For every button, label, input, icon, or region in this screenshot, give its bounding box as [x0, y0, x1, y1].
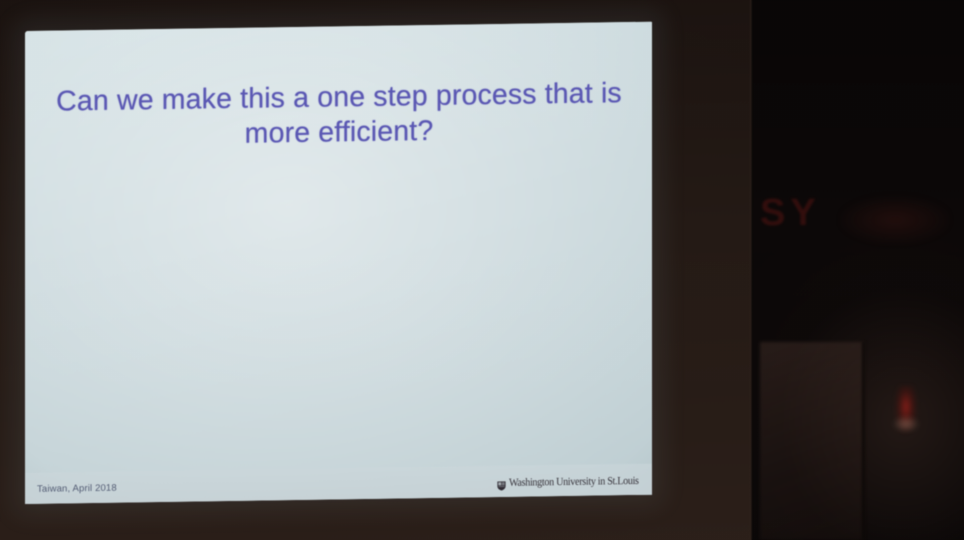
room-wall-edge: [750, 0, 753, 540]
slide-footer-location-date: Taiwan, April 2018: [37, 483, 117, 495]
wustl-wordmark: Washington University in St.Louis: [509, 475, 639, 489]
wall-panel: [760, 342, 864, 540]
projected-slide-photo: SY Can we make this a one step process t…: [0, 0, 964, 540]
slide-footer-branding: Washington University in St.Louis: [497, 475, 650, 489]
wall-panel-edge: [862, 342, 865, 540]
presentation-slide: Can we make this a one step process that…: [25, 22, 652, 504]
wall-sign-text: SY: [760, 192, 960, 248]
wustl-shield-icon: [497, 478, 506, 488]
slide-title: Can we make this a one step process that…: [43, 76, 635, 155]
indicator-light-glow: [893, 416, 919, 432]
